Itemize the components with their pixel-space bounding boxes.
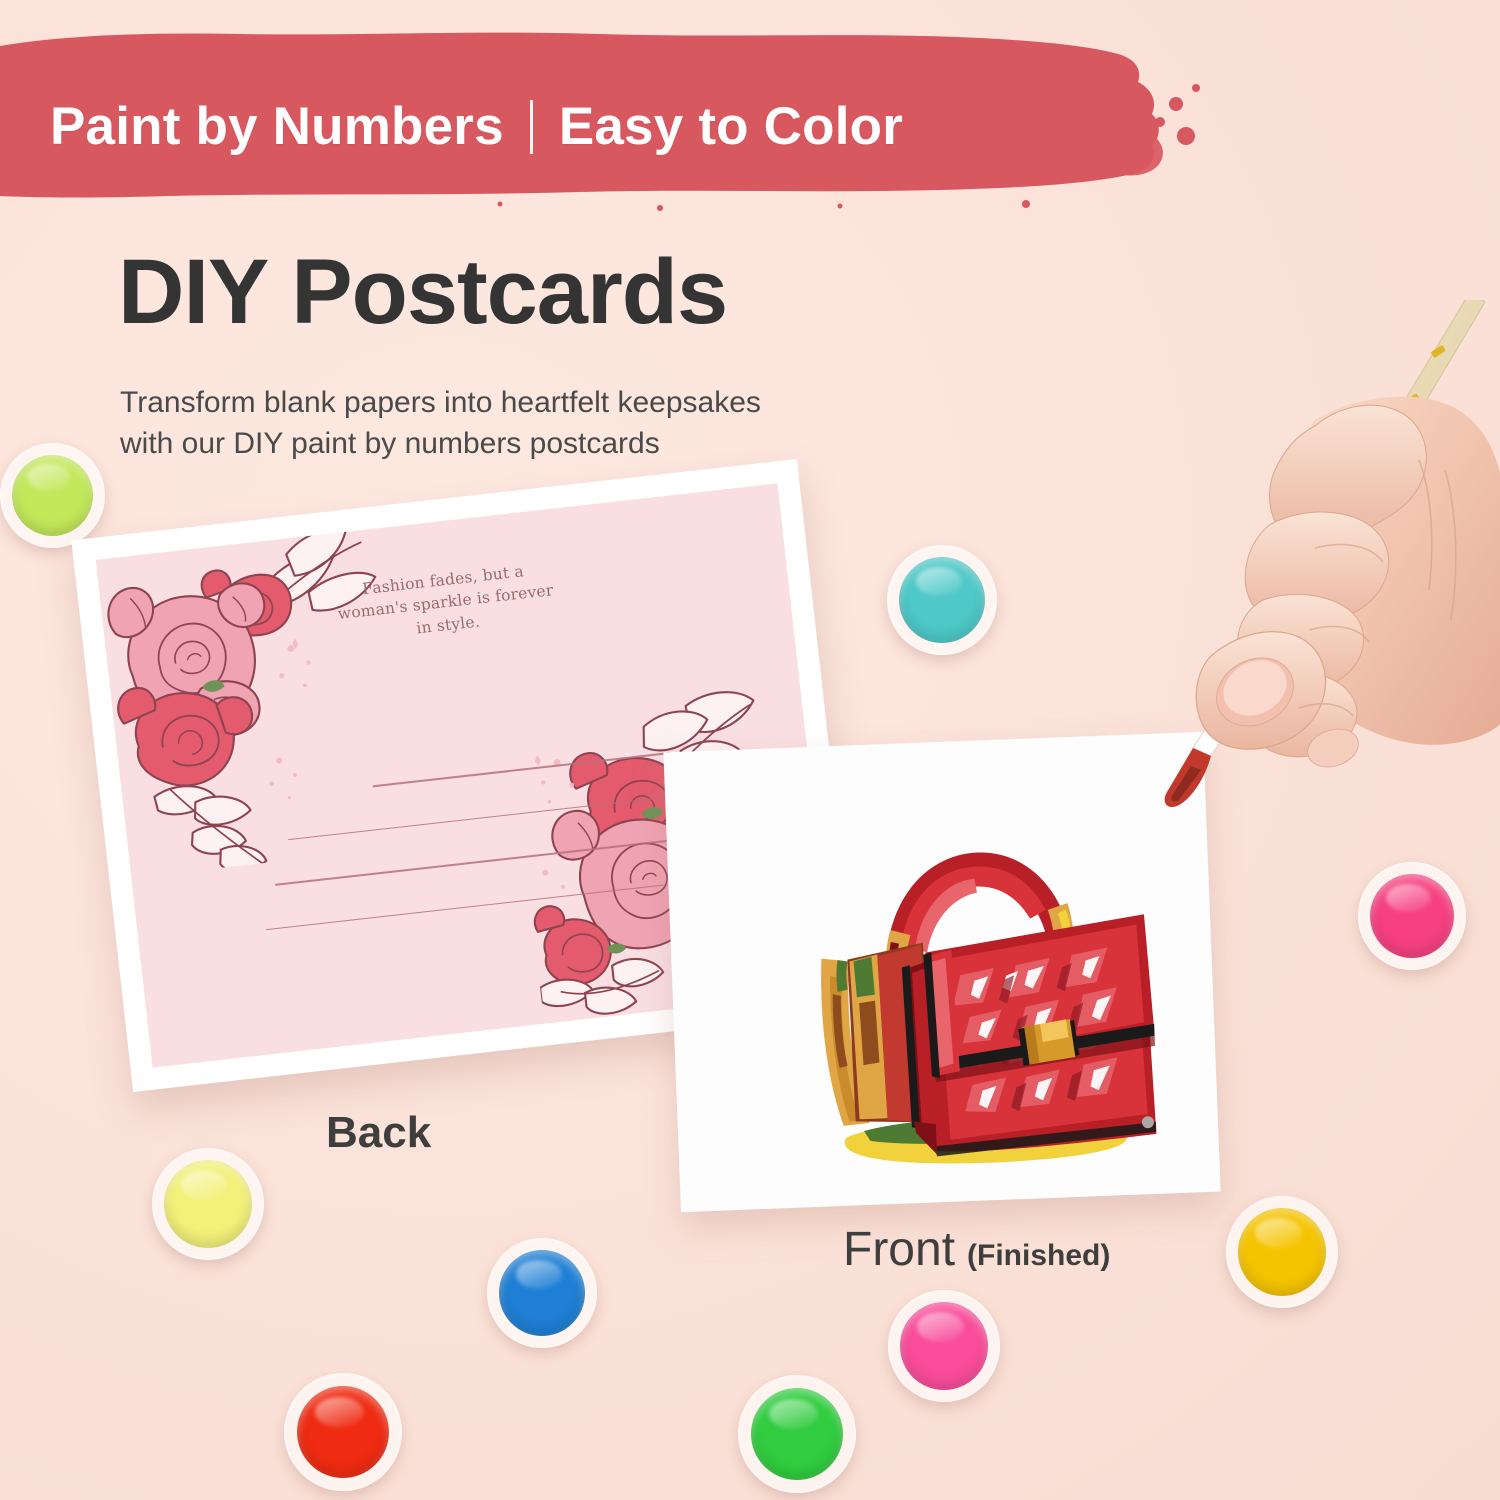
hand-holding-brush <box>1015 300 1500 840</box>
product-marketing-image: Paint by Numbers Easy to Color DIY Postc… <box>0 0 1500 1500</box>
caption-front-note: (Finished) <box>967 1239 1110 1273</box>
pot-gloss <box>516 1260 562 1289</box>
pot-gloss <box>315 1397 365 1428</box>
caption-front: Front (Finished) <box>843 1222 1110 1277</box>
pot-gloss <box>1386 884 1431 912</box>
pot-blue <box>487 1238 597 1348</box>
pot-magenta <box>1358 862 1466 970</box>
writing-line <box>288 795 676 840</box>
banner-divider <box>530 100 533 154</box>
pot-lime <box>0 443 105 548</box>
pot-gloss <box>1255 1218 1302 1247</box>
pot-teal <box>887 545 997 655</box>
pot-pale-yellow <box>152 1148 264 1260</box>
subtitle-line-1: Transform blank papers into heartfelt ke… <box>120 382 761 423</box>
page-title: DIY Postcards <box>118 240 727 345</box>
pot-pink <box>888 1290 1000 1402</box>
caption-back: Back <box>326 1108 431 1158</box>
writing-line <box>275 839 673 885</box>
pot-gloss <box>917 1312 964 1341</box>
writing-line <box>266 884 664 930</box>
banner-text-group: Paint by Numbers Easy to Color <box>50 96 903 157</box>
banner-left-label: Paint by Numbers <box>50 96 504 157</box>
subtitle-line-2: with our DIY paint by numbers postcards <box>120 423 761 464</box>
pot-gloss <box>181 1170 228 1199</box>
pot-golden <box>1226 1196 1338 1308</box>
pot-green <box>738 1375 856 1493</box>
pot-gloss <box>916 567 962 596</box>
pot-gloss <box>769 1399 819 1430</box>
caption-front-main: Front <box>843 1222 955 1277</box>
banner-right-label: Easy to Color <box>559 96 903 157</box>
pot-red <box>284 1373 402 1491</box>
hand <box>1196 397 1500 773</box>
page-subtitle: Transform blank papers into heartfelt ke… <box>120 382 761 465</box>
banner: Paint by Numbers Easy to Color <box>0 18 1220 213</box>
